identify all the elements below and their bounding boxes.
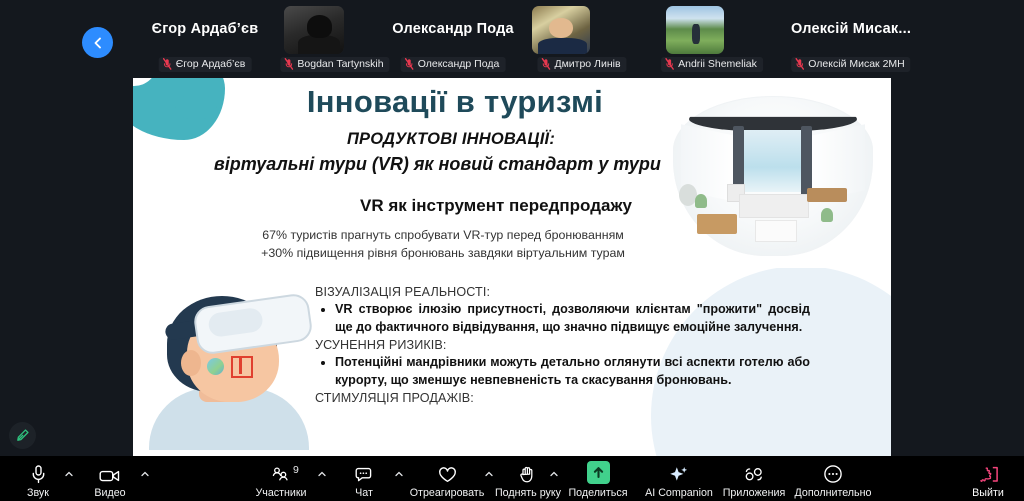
more-options-label: Дополнительно: [795, 487, 872, 499]
window-frame-icon: [231, 356, 253, 378]
share-screen-label: Поделиться: [568, 487, 627, 499]
participant-name-badge: Олексій Мисак 2МН: [791, 57, 910, 72]
section-heading: УСУНЕННЯ РИЗИКІВ:: [315, 338, 810, 352]
participants-label: Участники: [255, 487, 306, 499]
vr-statistics: 67% туристів прагнуть спробувати VR-тур …: [143, 226, 743, 262]
vr-headset-person-illustration: [143, 274, 315, 450]
shared-screen-slide[interactable]: Інновації в туризмі ПРОДУКТОВІ ІННОВАЦІЇ…: [133, 78, 891, 456]
slide-subtitle: ПРОДУКТОВІ ІННОВАЦІЇ: віртуальні тури (V…: [171, 130, 731, 175]
mic-off-icon: [163, 58, 172, 70]
leave-meeting-icon: [977, 463, 999, 484]
mic-off-icon: [284, 58, 293, 70]
participant-video-thumbnail: [666, 6, 724, 54]
participant-tile[interactable]: Олексій Мисак... Олексій Мисак 2МН: [756, 0, 946, 78]
video-label: Видео: [94, 487, 125, 499]
bullet-list: VR створює ілюзію присутності, дозволяюч…: [315, 301, 810, 336]
subtitle-line-2: віртуальні тури (VR) як новий стандарт у…: [171, 154, 731, 175]
annotate-pencil-button[interactable]: [9, 422, 36, 449]
back-arrow-icon[interactable]: [82, 27, 113, 58]
slide-title: Інновації в туризмі: [245, 84, 665, 120]
stat-line-2: +30% підвищення рівня бронювань завдяки …: [143, 244, 743, 262]
participant-badge-label: Єгор Ардаб’єв: [176, 58, 246, 70]
participants-icon: [270, 463, 292, 484]
participant-badge-label: Andrii Shemeliak: [678, 58, 757, 70]
heart-icon: [437, 463, 458, 484]
participant-name-badge: Andrii Shemeliak: [661, 57, 763, 72]
stat-line-1: 67% туристів прагнуть спробувати VR-тур …: [143, 226, 743, 244]
slide-body-content: ВІЗУАЛІЗАЦІЯ РЕАЛЬНОСТІ: VR створює ілюз…: [315, 285, 810, 407]
globe-icon: [207, 358, 224, 375]
share-screen-icon: [587, 463, 610, 484]
participant-badge-label: Олексій Мисак 2МН: [808, 58, 904, 70]
list-item: Потенційні мандрівники можуть детально о…: [335, 354, 810, 389]
participant-badge-label: Дмитро Линів: [554, 58, 620, 70]
participants-count: 9: [293, 464, 299, 476]
section-heading: ВІЗУАЛІЗАЦІЯ РЕАЛЬНОСТІ:: [315, 285, 810, 299]
audio-label: Звук: [27, 487, 49, 499]
video-chevron-up-icon[interactable]: [140, 469, 150, 479]
participant-name-badge: Олександр Пода: [401, 57, 506, 72]
participants-button[interactable]: Участники: [233, 463, 329, 499]
leave-meeting-label: Выйти: [972, 487, 1004, 499]
meeting-toolbar: Звук Видео: [0, 456, 1024, 501]
participant-badge-label: Олександр Пода: [418, 58, 500, 70]
more-dots-icon: [823, 463, 843, 484]
mic-off-icon: [541, 58, 550, 70]
raise-hand-icon: [519, 463, 537, 484]
more-options-button[interactable]: Дополнительно: [785, 463, 881, 499]
bullet-list: Потенційні мандрівники можуть детально о…: [315, 354, 810, 389]
zoom-meeting-window: Єгор Ардаб’єв Єгор Ардаб’єв: [0, 0, 1024, 501]
participant-name-badge: Єгор Ардаб’єв: [159, 57, 252, 72]
mic-off-icon: [795, 58, 804, 70]
participant-video-thumbnail: [284, 6, 344, 54]
section-heading: СТИМУЛЯЦІЯ ПРОДАЖІВ:: [315, 391, 810, 405]
chat-bubble-icon: [354, 463, 374, 484]
chat-label: Чат: [355, 487, 373, 499]
reactions-label: Отреагировать: [410, 487, 485, 499]
participant-display-name: Олексій Мисак...: [756, 0, 946, 58]
subtitle-line-1: ПРОДУКТОВІ ІННОВАЦІЇ:: [171, 130, 731, 149]
video-camera-icon: [99, 463, 121, 484]
participant-video-thumbnail: [532, 6, 590, 54]
list-item: VR створює ілюзію присутності, дозволяюч…: [335, 301, 810, 336]
mic-off-icon: [665, 58, 674, 70]
participant-filmstrip: Єгор Ардаб’єв Єгор Ардаб’єв: [0, 0, 1024, 78]
ai-sparkle-icon: [668, 463, 690, 484]
pencil-icon: [15, 428, 30, 443]
leave-meeting-button[interactable]: Выйти: [940, 463, 1024, 499]
apps-icon: [743, 463, 765, 484]
microphone-icon: [30, 463, 47, 484]
apps-label: Приложения: [723, 487, 786, 499]
ai-companion-label: AI Companion: [645, 487, 713, 499]
mic-off-icon: [405, 58, 414, 70]
vr-section-heading: VR як інструмент передпродажу: [261, 196, 731, 216]
participant-name-badge: Дмитро Линів: [537, 57, 626, 72]
